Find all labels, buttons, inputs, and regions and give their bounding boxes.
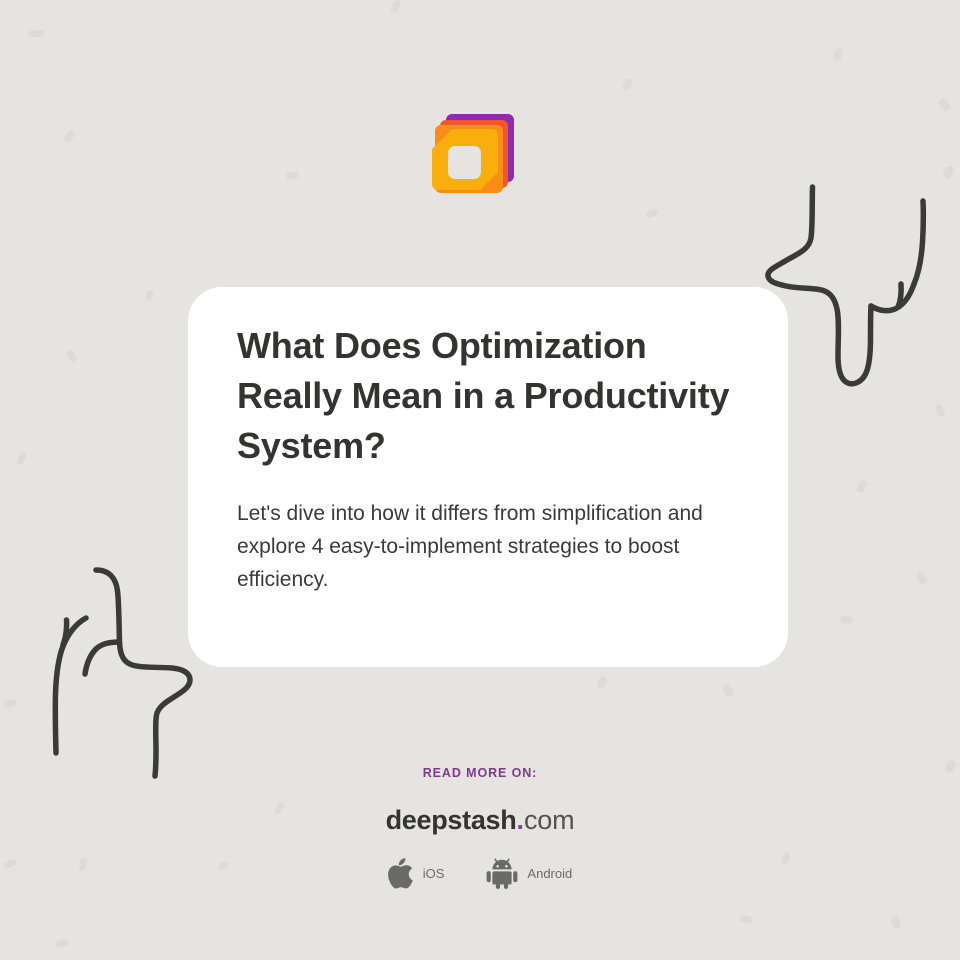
store-link-ios[interactable]: iOS (388, 858, 445, 889)
article-card: What Does Optimization Really Mean in a … (188, 287, 788, 667)
confetti-mark (144, 289, 154, 302)
confetti-mark (721, 683, 734, 698)
confetti-mark (286, 171, 300, 180)
store-label-android: Android (527, 866, 572, 881)
wordmark-name: deepstash (386, 805, 517, 835)
wordmark-dot: . (516, 805, 524, 835)
confetti-mark (55, 939, 69, 949)
footer: READ MORE ON: deepstash.com iOS (0, 766, 960, 889)
confetti-mark (28, 29, 44, 37)
confetti-mark (740, 915, 753, 924)
confetti-mark (855, 479, 868, 494)
confetti-mark (937, 97, 952, 113)
store-label-ios: iOS (423, 866, 445, 881)
store-link-android[interactable]: Android (486, 858, 572, 889)
confetti-mark (645, 208, 659, 218)
confetti-mark (63, 129, 76, 144)
confetti-mark (839, 615, 853, 625)
confetti-mark (3, 698, 17, 708)
confetti-mark (621, 77, 634, 92)
wordmark-tld: com (524, 805, 574, 835)
confetti-mark (832, 47, 844, 62)
confetti-mark (941, 165, 956, 181)
card-subtitle: Let's dive into how it differs from simp… (237, 497, 736, 596)
apple-icon (388, 858, 414, 889)
confetti-mark (66, 349, 78, 363)
confetti-mark (16, 451, 28, 466)
deepstash-stacked-squares-logo-icon (430, 108, 516, 194)
read-more-label: READ MORE ON: (0, 766, 960, 780)
android-icon (486, 858, 518, 889)
confetti-mark (934, 403, 947, 418)
store-links: iOS Android (0, 858, 960, 889)
confetti-mark (596, 675, 609, 690)
page-title: What Does Optimization Really Mean in a … (237, 321, 736, 471)
brand-wordmark[interactable]: deepstash.com (0, 807, 960, 834)
confetti-mark (389, 0, 401, 14)
confetti-mark (890, 915, 902, 930)
confetti-mark (915, 571, 929, 586)
